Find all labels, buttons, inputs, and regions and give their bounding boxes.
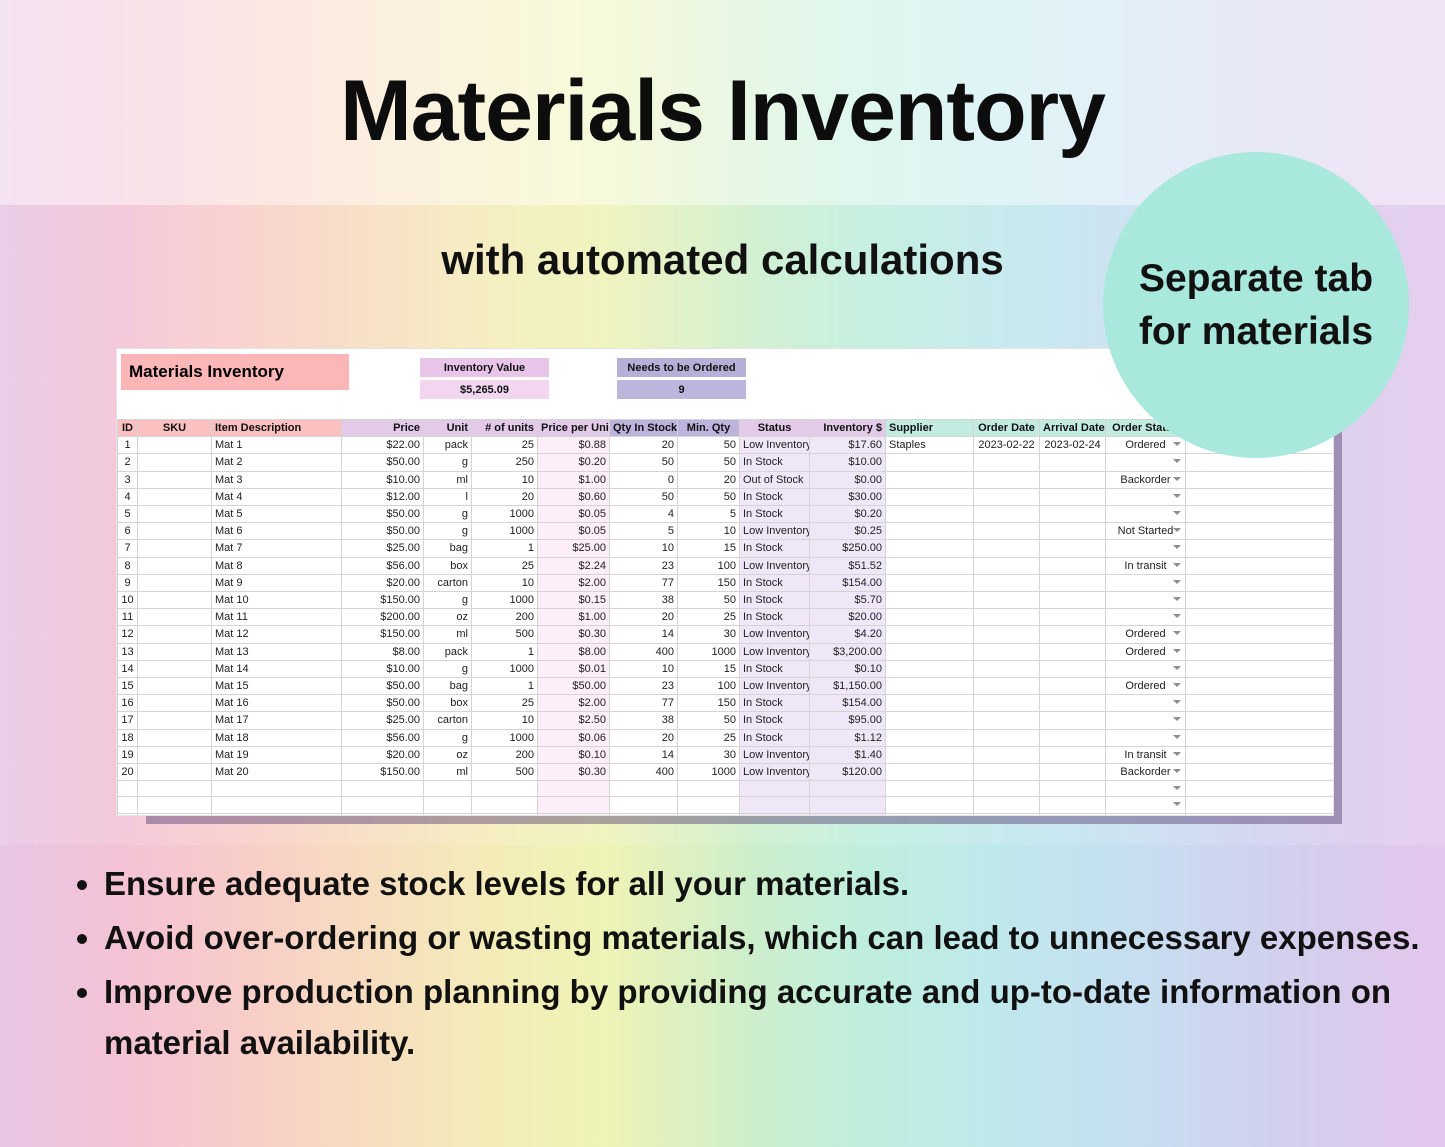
cell-qty[interactable]: 23 — [610, 557, 678, 574]
col-header-id[interactable]: ID — [118, 420, 138, 437]
cell-ppu[interactable]: $0.20 — [538, 454, 610, 471]
cell-qty[interactable]: 20 — [610, 729, 678, 746]
cell-desc[interactable]: Mat 19 — [212, 746, 342, 763]
cell-sku[interactable] — [138, 454, 212, 471]
cell-id[interactable] — [118, 813, 138, 816]
cell-price[interactable]: $50.00 — [342, 454, 424, 471]
cell-price[interactable]: $22.00 — [342, 437, 424, 454]
cell-desc[interactable]: Mat 14 — [212, 660, 342, 677]
cell-status[interactable] — [740, 797, 810, 813]
cell-unit[interactable] — [424, 813, 472, 816]
cell-desc[interactable] — [212, 813, 342, 816]
cell-sku[interactable] — [138, 678, 212, 695]
cell-price[interactable] — [342, 797, 424, 813]
cell-id[interactable]: 2 — [118, 454, 138, 471]
cell-price[interactable]: $56.00 — [342, 729, 424, 746]
cell-desc[interactable]: Mat 16 — [212, 695, 342, 712]
cell-desc[interactable]: Mat 13 — [212, 643, 342, 660]
cell-supplier[interactable] — [886, 797, 974, 813]
cell-order-date[interactable] — [974, 506, 1040, 523]
cell-min[interactable]: 100 — [678, 678, 740, 695]
cell-supplier[interactable] — [886, 540, 974, 557]
cell-qty[interactable]: 38 — [610, 712, 678, 729]
cell-status[interactable]: In Stock — [740, 592, 810, 609]
cell-arrival-date[interactable] — [1040, 678, 1106, 695]
col-header-min-qty[interactable]: Min. Qty — [678, 420, 740, 437]
cell-inv[interactable]: $0.25 — [810, 523, 886, 540]
col-header-number-of-units[interactable]: # of units — [472, 420, 538, 437]
cell-sku[interactable] — [138, 660, 212, 677]
cell-status[interactable]: In Stock — [740, 712, 810, 729]
cell-unit[interactable]: bag — [424, 678, 472, 695]
cell-arrival-date[interactable]: 2023-02-24 — [1040, 437, 1106, 454]
cell-supplier[interactable] — [886, 523, 974, 540]
cell-id[interactable] — [118, 797, 138, 813]
cell-order-status[interactable] — [1106, 695, 1186, 712]
cell-status[interactable] — [740, 781, 810, 797]
cell-min[interactable]: 10 — [678, 523, 740, 540]
cell-min[interactable]: 150 — [678, 574, 740, 591]
cell-inv[interactable]: $17.60 — [810, 437, 886, 454]
cell-qty[interactable]: 400 — [610, 764, 678, 781]
cell-status[interactable]: In Stock — [740, 729, 810, 746]
cell-arrival-date[interactable] — [1040, 712, 1106, 729]
cell-status[interactable]: In Stock — [740, 574, 810, 591]
cell-arrival-date[interactable] — [1040, 781, 1106, 797]
cell-arrival-date[interactable] — [1040, 471, 1106, 488]
cell-sku[interactable] — [138, 626, 212, 643]
chevron-down-icon[interactable] — [1173, 597, 1181, 601]
cell-ppu[interactable] — [538, 797, 610, 813]
cell-supplier[interactable] — [886, 626, 974, 643]
cell-inv[interactable]: $5.70 — [810, 592, 886, 609]
cell-arrival-date[interactable] — [1040, 609, 1106, 626]
cell-qty[interactable]: 20 — [610, 609, 678, 626]
cell-units[interactable]: 1000 — [472, 523, 538, 540]
cell-order-date[interactable] — [974, 592, 1040, 609]
cell-id[interactable]: 13 — [118, 643, 138, 660]
cell-ppu[interactable]: $2.24 — [538, 557, 610, 574]
cell-qty[interactable]: 5 — [610, 523, 678, 540]
cell-price[interactable] — [342, 781, 424, 797]
cell-order-date[interactable] — [974, 557, 1040, 574]
cell-supplier[interactable] — [886, 660, 974, 677]
cell-unit[interactable]: ml — [424, 471, 472, 488]
cell-unit[interactable] — [424, 781, 472, 797]
cell-price[interactable]: $20.00 — [342, 574, 424, 591]
cell-inv[interactable]: $154.00 — [810, 695, 886, 712]
cell-sku[interactable] — [138, 523, 212, 540]
cell-desc[interactable]: Mat 12 — [212, 626, 342, 643]
cell-desc[interactable]: Mat 11 — [212, 609, 342, 626]
cell-ppu[interactable]: $2.50 — [538, 712, 610, 729]
cell-id[interactable]: 3 — [118, 471, 138, 488]
cell-id[interactable]: 16 — [118, 695, 138, 712]
cell-supplier[interactable] — [886, 574, 974, 591]
cell-qty[interactable]: 20 — [610, 437, 678, 454]
chevron-down-icon[interactable] — [1173, 614, 1181, 618]
cell-status[interactable]: Out of Stock — [740, 471, 810, 488]
cell-arrival-date[interactable] — [1040, 695, 1106, 712]
cell-id[interactable]: 14 — [118, 660, 138, 677]
cell-unit[interactable]: carton — [424, 712, 472, 729]
cell-units[interactable] — [472, 813, 538, 816]
cell-desc[interactable]: Mat 4 — [212, 488, 342, 505]
cell-ppu[interactable]: $1.00 — [538, 609, 610, 626]
cell-id[interactable]: 19 — [118, 746, 138, 763]
cell-inv[interactable] — [810, 813, 886, 816]
cell-sku[interactable] — [138, 746, 212, 763]
col-header-status[interactable]: Status — [740, 420, 810, 437]
cell-desc[interactable]: Mat 17 — [212, 712, 342, 729]
chevron-down-icon[interactable] — [1173, 494, 1181, 498]
cell-units[interactable]: 200 — [472, 609, 538, 626]
cell-price[interactable]: $150.00 — [342, 592, 424, 609]
cell-ppu[interactable]: $2.00 — [538, 574, 610, 591]
cell-supplier[interactable] — [886, 746, 974, 763]
cell-order-date[interactable] — [974, 746, 1040, 763]
cell-units[interactable]: 10 — [472, 574, 538, 591]
cell-units[interactable]: 25 — [472, 557, 538, 574]
cell-desc[interactable]: Mat 5 — [212, 506, 342, 523]
cell-order-status[interactable] — [1106, 506, 1186, 523]
cell-units[interactable]: 500 — [472, 626, 538, 643]
cell-id[interactable]: 11 — [118, 609, 138, 626]
cell-qty[interactable]: 77 — [610, 695, 678, 712]
cell-desc[interactable]: Mat 10 — [212, 592, 342, 609]
cell-inv[interactable]: $1.12 — [810, 729, 886, 746]
cell-units[interactable] — [472, 781, 538, 797]
col-header-inventory-dollars[interactable]: Inventory $ — [810, 420, 886, 437]
cell-order-date[interactable]: 2023-02-22 — [974, 437, 1040, 454]
cell-arrival-date[interactable] — [1040, 523, 1106, 540]
cell-unit[interactable]: ml — [424, 626, 472, 643]
cell-order-status[interactable] — [1106, 729, 1186, 746]
cell-desc[interactable] — [212, 797, 342, 813]
cell-price[interactable]: $50.00 — [342, 678, 424, 695]
cell-order-date[interactable] — [974, 540, 1040, 557]
cell-min[interactable]: 50 — [678, 437, 740, 454]
cell-order-status[interactable]: In transit — [1106, 557, 1186, 574]
cell-order-date[interactable] — [974, 781, 1040, 797]
cell-status[interactable]: In Stock — [740, 454, 810, 471]
cell-price[interactable]: $10.00 — [342, 471, 424, 488]
cell-unit[interactable]: bag — [424, 540, 472, 557]
chevron-down-icon[interactable] — [1173, 477, 1181, 481]
cell-inv[interactable]: $120.00 — [810, 764, 886, 781]
cell-unit[interactable]: carton — [424, 574, 472, 591]
cell-order-date[interactable] — [974, 643, 1040, 660]
cell-unit[interactable]: oz — [424, 609, 472, 626]
cell-min[interactable] — [678, 781, 740, 797]
cell-ppu[interactable]: $50.00 — [538, 678, 610, 695]
cell-sku[interactable] — [138, 557, 212, 574]
cell-id[interactable]: 4 — [118, 488, 138, 505]
cell-price[interactable]: $200.00 — [342, 609, 424, 626]
cell-min[interactable]: 50 — [678, 592, 740, 609]
cell-order-status[interactable]: Not Started — [1106, 523, 1186, 540]
cell-price[interactable]: $50.00 — [342, 506, 424, 523]
cell-status[interactable]: Low Inventory — [740, 678, 810, 695]
cell-sku[interactable] — [138, 488, 212, 505]
cell-arrival-date[interactable] — [1040, 660, 1106, 677]
cell-inv[interactable]: $0.20 — [810, 506, 886, 523]
chevron-down-icon[interactable] — [1173, 666, 1181, 670]
cell-desc[interactable]: Mat 6 — [212, 523, 342, 540]
cell-ppu[interactable]: $0.15 — [538, 592, 610, 609]
cell-min[interactable]: 15 — [678, 660, 740, 677]
cell-price[interactable]: $10.00 — [342, 660, 424, 677]
cell-order-date[interactable] — [974, 678, 1040, 695]
cell-units[interactable]: 1000 — [472, 660, 538, 677]
cell-price[interactable]: $150.00 — [342, 626, 424, 643]
cell-qty[interactable]: 0 — [610, 471, 678, 488]
col-header-unit[interactable]: Unit — [424, 420, 472, 437]
chevron-down-icon[interactable] — [1173, 649, 1181, 653]
cell-order-date[interactable] — [974, 523, 1040, 540]
cell-id[interactable]: 15 — [118, 678, 138, 695]
cell-unit[interactable]: oz — [424, 746, 472, 763]
chevron-down-icon[interactable] — [1173, 511, 1181, 515]
cell-id[interactable]: 6 — [118, 523, 138, 540]
cell-arrival-date[interactable] — [1040, 626, 1106, 643]
cell-supplier[interactable] — [886, 557, 974, 574]
chevron-down-icon[interactable] — [1173, 631, 1181, 635]
chevron-down-icon[interactable] — [1173, 802, 1181, 806]
col-header-price[interactable]: Price — [342, 420, 424, 437]
cell-order-status[interactable] — [1106, 574, 1186, 591]
cell-min[interactable] — [678, 797, 740, 813]
cell-sku[interactable] — [138, 609, 212, 626]
cell-order-date[interactable] — [974, 660, 1040, 677]
cell-unit[interactable]: g — [424, 523, 472, 540]
cell-unit[interactable]: l — [424, 488, 472, 505]
cell-qty[interactable]: 10 — [610, 660, 678, 677]
cell-order-status[interactable] — [1106, 540, 1186, 557]
cell-inv[interactable]: $250.00 — [810, 540, 886, 557]
chevron-down-icon[interactable] — [1173, 769, 1181, 773]
cell-min[interactable]: 50 — [678, 712, 740, 729]
cell-desc[interactable]: Mat 7 — [212, 540, 342, 557]
cell-price[interactable]: $8.00 — [342, 643, 424, 660]
cell-id[interactable] — [118, 781, 138, 797]
cell-desc[interactable]: Mat 9 — [212, 574, 342, 591]
chevron-down-icon[interactable] — [1173, 786, 1181, 790]
cell-arrival-date[interactable] — [1040, 540, 1106, 557]
cell-status[interactable] — [740, 813, 810, 816]
cell-units[interactable]: 10 — [472, 712, 538, 729]
cell-supplier[interactable] — [886, 813, 974, 816]
cell-ppu[interactable]: $0.88 — [538, 437, 610, 454]
cell-order-status[interactable]: Ordered — [1106, 643, 1186, 660]
cell-qty[interactable]: 50 — [610, 488, 678, 505]
cell-min[interactable]: 150 — [678, 695, 740, 712]
cell-inv[interactable]: $10.00 — [810, 454, 886, 471]
chevron-down-icon[interactable] — [1173, 683, 1181, 687]
cell-order-date[interactable] — [974, 797, 1040, 813]
cell-unit[interactable] — [424, 797, 472, 813]
cell-ppu[interactable] — [538, 781, 610, 797]
cell-sku[interactable] — [138, 592, 212, 609]
cell-desc[interactable]: Mat 20 — [212, 764, 342, 781]
chevron-down-icon[interactable] — [1173, 442, 1181, 446]
cell-id[interactable]: 7 — [118, 540, 138, 557]
cell-status[interactable]: Low Inventory — [740, 746, 810, 763]
cell-status[interactable]: In Stock — [740, 695, 810, 712]
cell-arrival-date[interactable] — [1040, 592, 1106, 609]
cell-order-date[interactable] — [974, 813, 1040, 816]
col-header-sku[interactable]: SKU — [138, 420, 212, 437]
cell-order-status[interactable] — [1106, 609, 1186, 626]
cell-supplier[interactable] — [886, 506, 974, 523]
cell-qty[interactable]: 77 — [610, 574, 678, 591]
cell-sku[interactable] — [138, 506, 212, 523]
cell-unit[interactable]: ml — [424, 764, 472, 781]
cell-order-status[interactable] — [1106, 781, 1186, 797]
cell-order-date[interactable] — [974, 729, 1040, 746]
cell-inv[interactable] — [810, 797, 886, 813]
chevron-down-icon[interactable] — [1173, 752, 1181, 756]
cell-supplier[interactable] — [886, 643, 974, 660]
cell-order-status[interactable] — [1106, 813, 1186, 816]
cell-sku[interactable] — [138, 729, 212, 746]
cell-units[interactable]: 500 — [472, 764, 538, 781]
cell-units[interactable]: 1000 — [472, 592, 538, 609]
cell-order-status[interactable]: Ordered — [1106, 437, 1186, 454]
cell-order-date[interactable] — [974, 454, 1040, 471]
cell-order-status[interactable] — [1106, 660, 1186, 677]
cell-arrival-date[interactable] — [1040, 797, 1106, 813]
cell-desc[interactable]: Mat 18 — [212, 729, 342, 746]
cell-supplier[interactable] — [886, 488, 974, 505]
cell-sku[interactable] — [138, 574, 212, 591]
cell-order-date[interactable] — [974, 626, 1040, 643]
cell-inv[interactable]: $3,200.00 — [810, 643, 886, 660]
cell-unit[interactable]: g — [424, 729, 472, 746]
cell-desc[interactable] — [212, 781, 342, 797]
cell-sku[interactable] — [138, 813, 212, 816]
cell-units[interactable]: 1000 — [472, 729, 538, 746]
chevron-down-icon[interactable] — [1173, 717, 1181, 721]
cell-min[interactable]: 25 — [678, 609, 740, 626]
cell-sku[interactable] — [138, 764, 212, 781]
cell-ppu[interactable]: $25.00 — [538, 540, 610, 557]
cell-qty[interactable] — [610, 781, 678, 797]
cell-order-status[interactable]: Backorder — [1106, 471, 1186, 488]
cell-unit[interactable]: g — [424, 592, 472, 609]
col-header-item-description[interactable]: Item Description — [212, 420, 342, 437]
cell-qty[interactable]: 4 — [610, 506, 678, 523]
cell-inv[interactable]: $1.40 — [810, 746, 886, 763]
chevron-down-icon[interactable] — [1173, 580, 1181, 584]
cell-unit[interactable]: g — [424, 506, 472, 523]
cell-inv[interactable]: $20.00 — [810, 609, 886, 626]
cell-desc[interactable]: Mat 2 — [212, 454, 342, 471]
cell-ppu[interactable]: $0.60 — [538, 488, 610, 505]
cell-arrival-date[interactable] — [1040, 729, 1106, 746]
cell-sku[interactable] — [138, 781, 212, 797]
cell-min[interactable]: 1000 — [678, 643, 740, 660]
cell-price[interactable]: $12.00 — [342, 488, 424, 505]
cell-ppu[interactable]: $0.05 — [538, 523, 610, 540]
cell-units[interactable]: 10 — [472, 471, 538, 488]
col-header-order-date[interactable]: Order Date — [974, 420, 1040, 437]
cell-id[interactable]: 20 — [118, 764, 138, 781]
cell-price[interactable]: $50.00 — [342, 695, 424, 712]
cell-units[interactable]: 200 — [472, 746, 538, 763]
chevron-down-icon[interactable] — [1173, 545, 1181, 549]
cell-id[interactable]: 8 — [118, 557, 138, 574]
cell-status[interactable]: In Stock — [740, 660, 810, 677]
cell-inv[interactable]: $51.52 — [810, 557, 886, 574]
cell-sku[interactable] — [138, 712, 212, 729]
cell-status[interactable]: Low Inventory — [740, 437, 810, 454]
cell-supplier[interactable]: Staples — [886, 437, 974, 454]
cell-order-status[interactable]: In transit — [1106, 746, 1186, 763]
cell-min[interactable]: 20 — [678, 471, 740, 488]
cell-id[interactable]: 10 — [118, 592, 138, 609]
cell-sku[interactable] — [138, 797, 212, 813]
cell-order-status[interactable] — [1106, 488, 1186, 505]
cell-status[interactable]: In Stock — [740, 609, 810, 626]
cell-id[interactable]: 5 — [118, 506, 138, 523]
col-header-arrival-date[interactable]: Arrival Date — [1040, 420, 1106, 437]
cell-units[interactable]: 1000 — [472, 506, 538, 523]
cell-price[interactable]: $150.00 — [342, 764, 424, 781]
cell-qty[interactable]: 14 — [610, 746, 678, 763]
cell-unit[interactable]: box — [424, 695, 472, 712]
cell-min[interactable]: 30 — [678, 626, 740, 643]
cell-unit[interactable]: pack — [424, 643, 472, 660]
cell-id[interactable]: 12 — [118, 626, 138, 643]
cell-arrival-date[interactable] — [1040, 574, 1106, 591]
cell-units[interactable]: 1 — [472, 540, 538, 557]
cell-status[interactable]: In Stock — [740, 540, 810, 557]
cell-arrival-date[interactable] — [1040, 764, 1106, 781]
chevron-down-icon[interactable] — [1173, 459, 1181, 463]
cell-min[interactable]: 30 — [678, 746, 740, 763]
cell-inv[interactable]: $1,150.00 — [810, 678, 886, 695]
cell-desc[interactable]: Mat 15 — [212, 678, 342, 695]
cell-price[interactable]: $25.00 — [342, 540, 424, 557]
cell-inv[interactable]: $154.00 — [810, 574, 886, 591]
cell-min[interactable]: 25 — [678, 729, 740, 746]
cell-order-date[interactable] — [974, 574, 1040, 591]
cell-status[interactable]: Low Inventory — [740, 643, 810, 660]
cell-min[interactable]: 5 — [678, 506, 740, 523]
cell-id[interactable]: 9 — [118, 574, 138, 591]
cell-id[interactable]: 18 — [118, 729, 138, 746]
cell-min[interactable]: 15 — [678, 540, 740, 557]
cell-order-date[interactable] — [974, 764, 1040, 781]
cell-order-date[interactable] — [974, 488, 1040, 505]
cell-supplier[interactable] — [886, 678, 974, 695]
cell-desc[interactable]: Mat 1 — [212, 437, 342, 454]
cell-qty[interactable]: 14 — [610, 626, 678, 643]
cell-unit[interactable]: box — [424, 557, 472, 574]
cell-inv[interactable]: $95.00 — [810, 712, 886, 729]
cell-ppu[interactable]: $0.30 — [538, 764, 610, 781]
cell-min[interactable]: 50 — [678, 454, 740, 471]
cell-inv[interactable] — [810, 781, 886, 797]
cell-order-date[interactable] — [974, 609, 1040, 626]
cell-qty[interactable] — [610, 797, 678, 813]
cell-sku[interactable] — [138, 540, 212, 557]
cell-supplier[interactable] — [886, 781, 974, 797]
cell-arrival-date[interactable] — [1040, 643, 1106, 660]
cell-qty[interactable]: 10 — [610, 540, 678, 557]
cell-unit[interactable]: g — [424, 454, 472, 471]
